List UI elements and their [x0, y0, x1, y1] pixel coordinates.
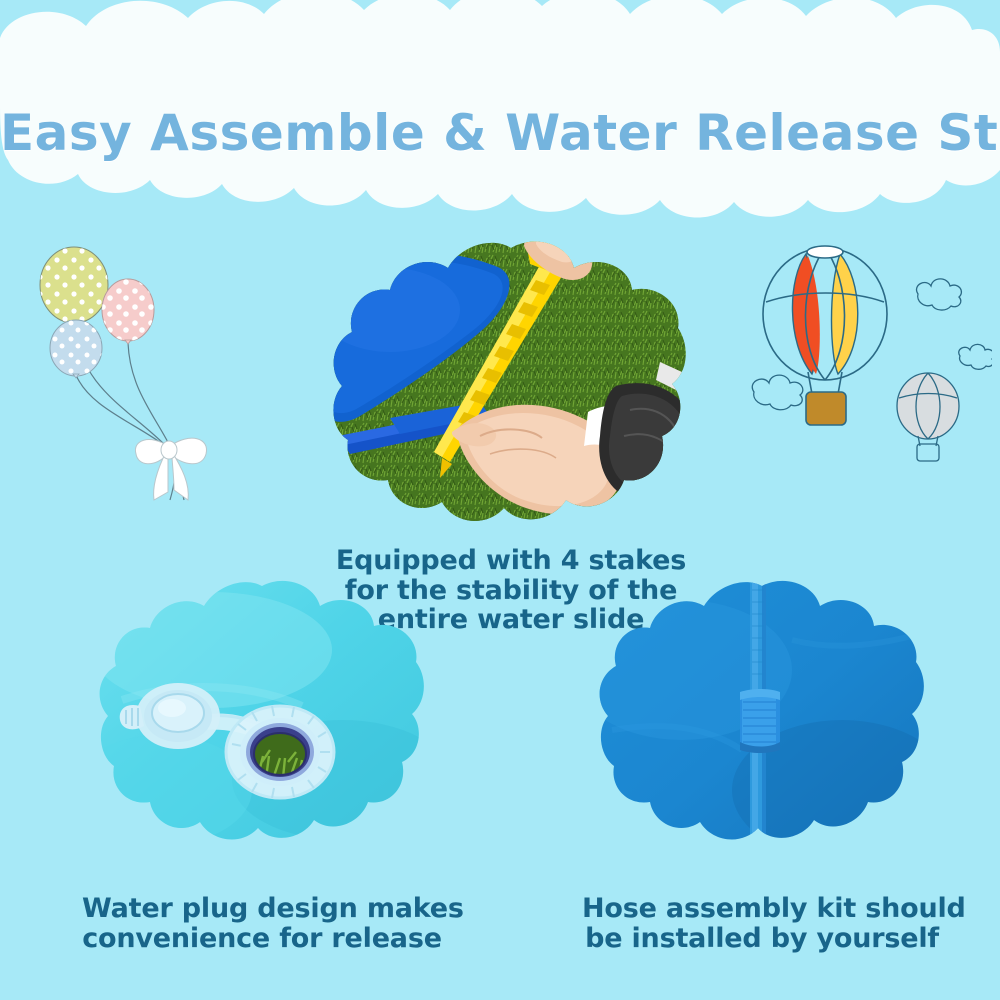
caption-line: Water plug design makes [82, 894, 442, 924]
strap-loop [740, 689, 780, 753]
photo-stakes [330, 240, 692, 540]
balloon-pink [102, 279, 154, 344]
cloud-outline-icon [752, 375, 803, 410]
caption-line: Hose assembly kit should [582, 894, 942, 924]
cloud-outline-icon [917, 279, 962, 310]
caption-hose-assembly: Hose assembly kit should be installed by… [582, 894, 942, 953]
bow-icon [135, 438, 206, 500]
balloon-blue [50, 320, 102, 378]
balloon-yellow [40, 247, 108, 327]
caption-water-plug: Water plug design makes convenience for … [82, 894, 442, 953]
water-plug-photo-content [72, 580, 452, 870]
cloud-banner: Easy Assemble & Water Release Steps [0, 0, 1000, 220]
photo-hose-assembly [592, 580, 932, 870]
hose-assembly-photo-content [572, 570, 952, 880]
caption-line: Equipped with 4 stakes [331, 546, 691, 576]
hot-air-balloon-decoration [742, 232, 992, 462]
page-title: Easy Assemble & Water Release Steps [0, 104, 1000, 162]
cloud-outline-icon [959, 344, 992, 369]
polka-dot-balloons-decoration [18, 238, 243, 503]
balloon-envelope [763, 248, 887, 380]
photo-water-plug [92, 580, 432, 870]
infographic-canvas: Equipped with 4 stakes for the stability… [0, 0, 1000, 1000]
small-balloon [897, 373, 959, 461]
caption-line: convenience for release [82, 924, 442, 954]
stakes-photo-content [316, 226, 698, 540]
caption-line: be installed by yourself [582, 924, 942, 954]
water-valve [226, 706, 334, 798]
